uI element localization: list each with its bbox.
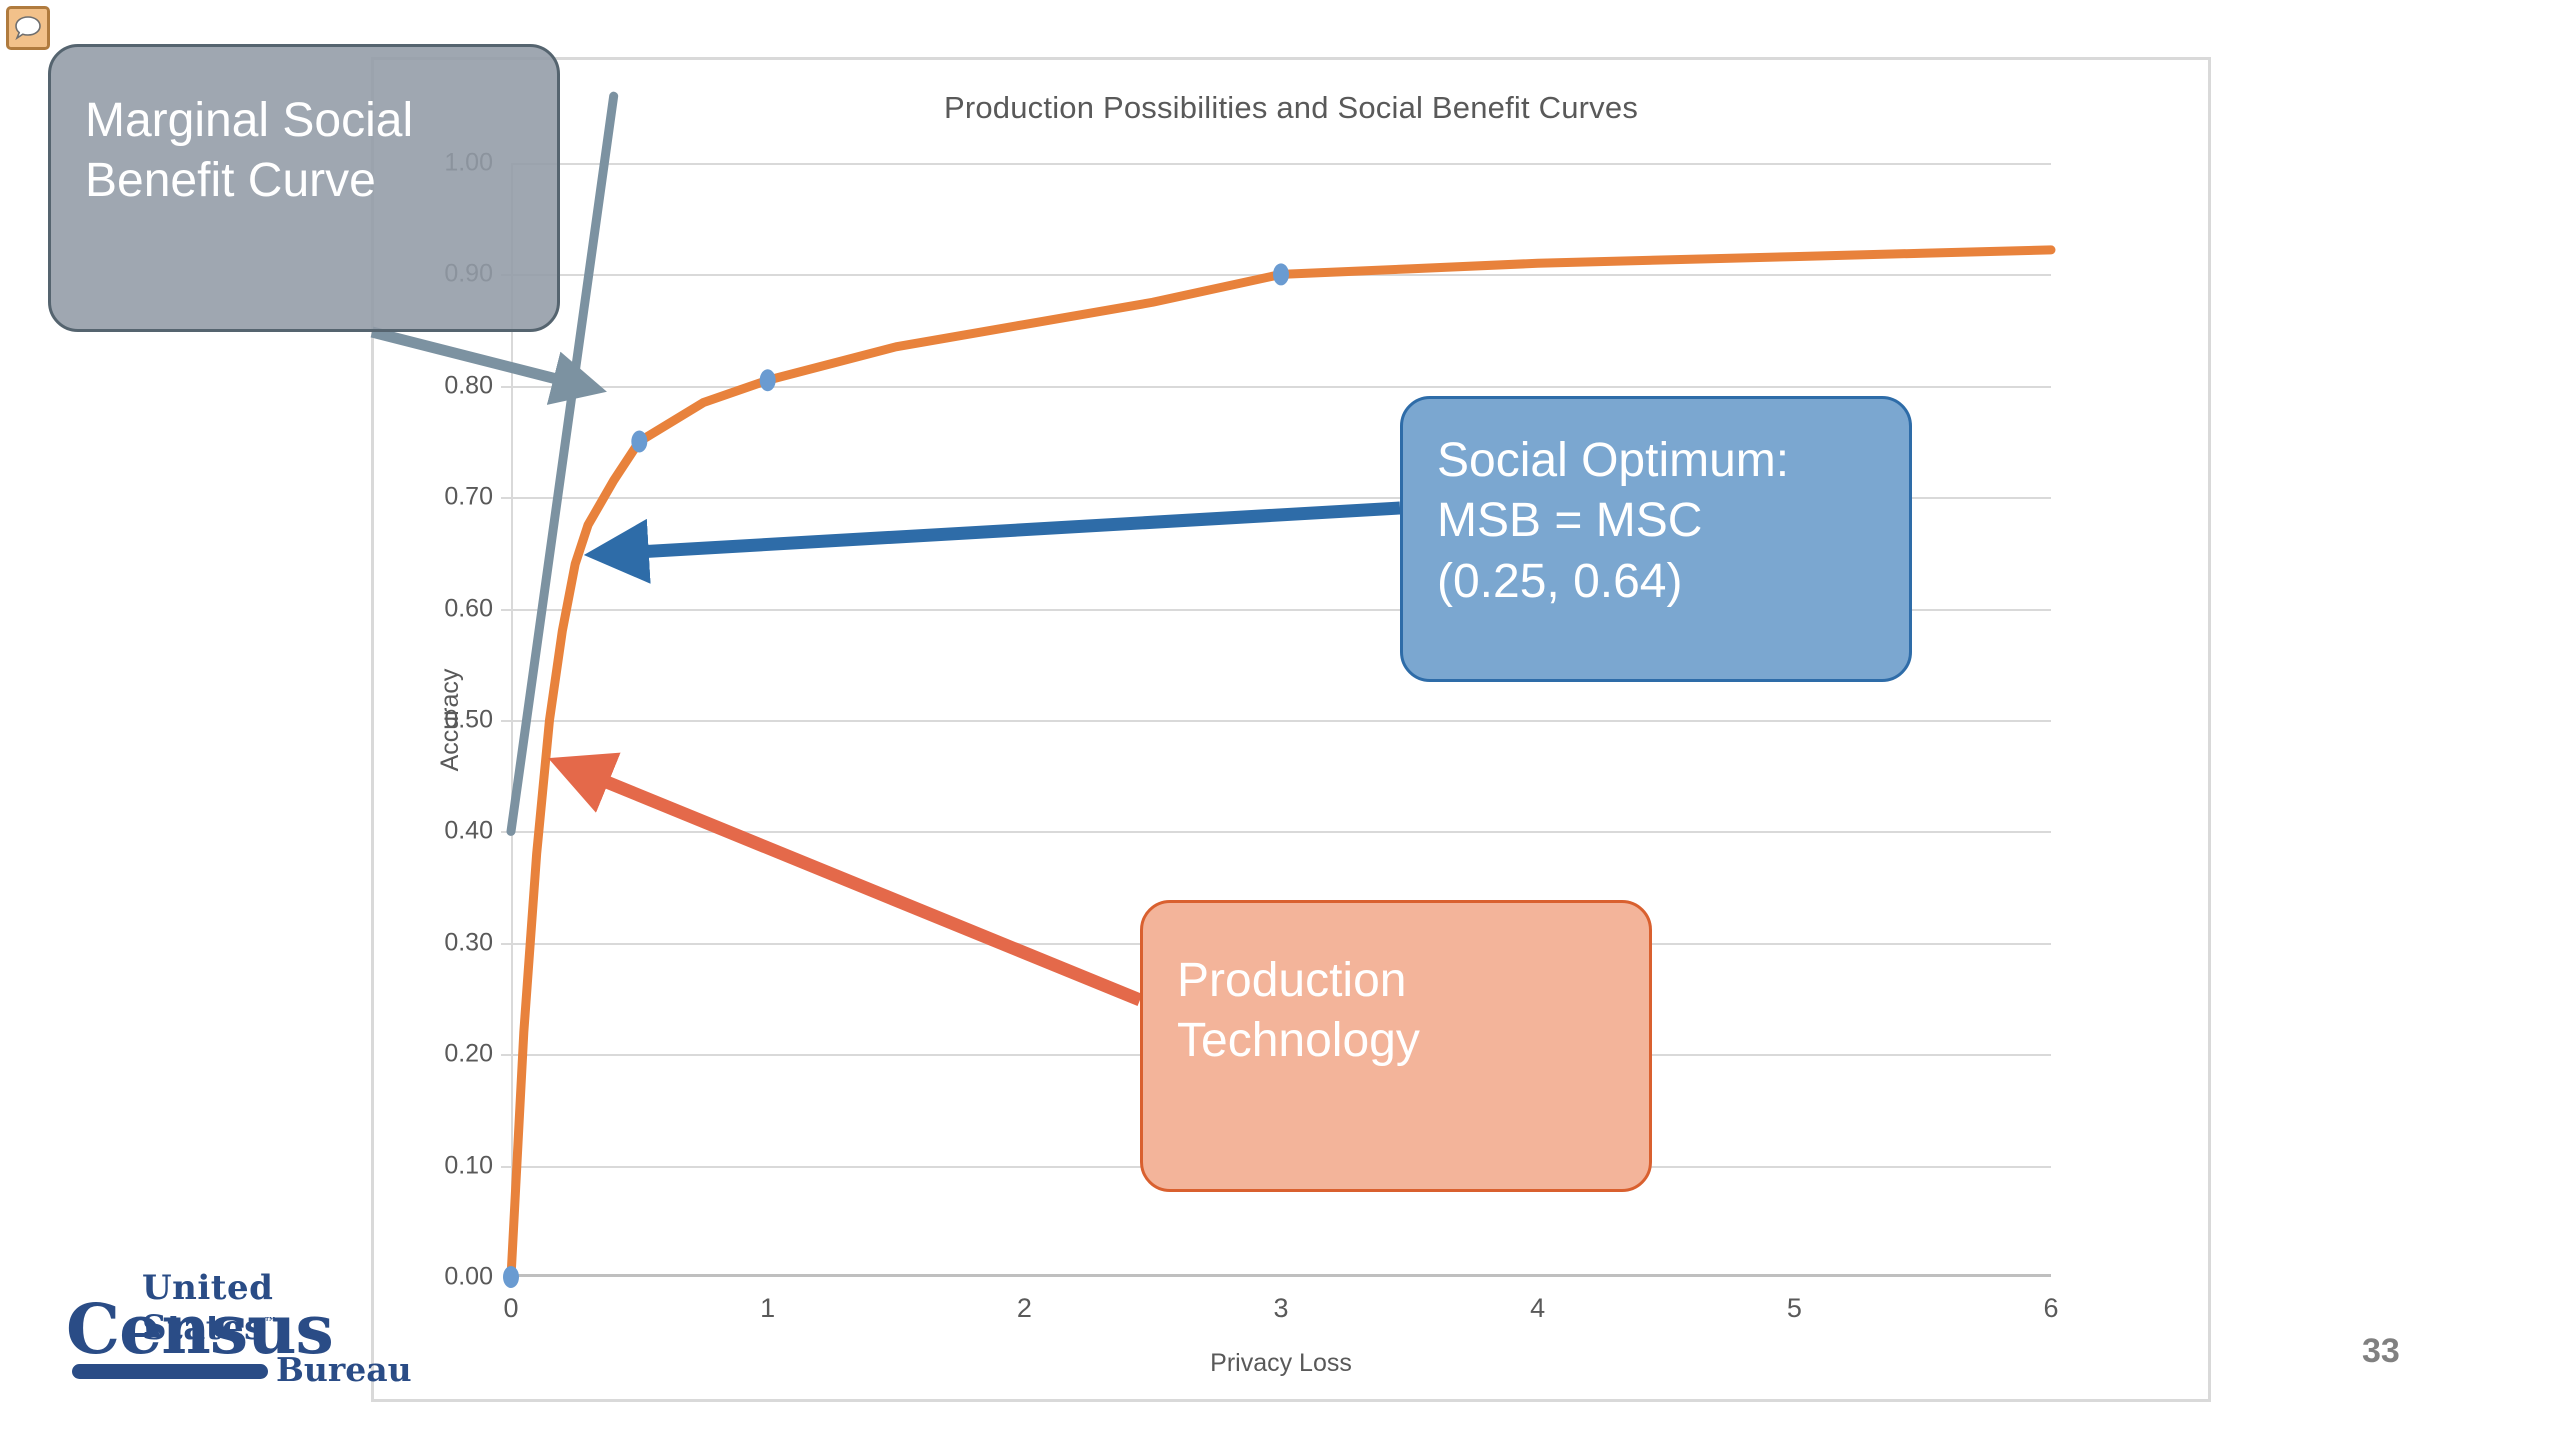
x-tick-label: 4 bbox=[1530, 1293, 1545, 1324]
callout-marginal-social-benefit[interactable]: Marginal Social Benefit Curve bbox=[48, 44, 560, 332]
data-point-marker bbox=[631, 431, 647, 453]
x-tick-label: 3 bbox=[1273, 1293, 1288, 1324]
census-bureau-logo: United States™ Census Bureau bbox=[66, 1268, 356, 1388]
callout-line: Production bbox=[1177, 951, 1615, 1011]
y-tick-label: 0.60 bbox=[444, 594, 493, 623]
x-tick-label: 1 bbox=[760, 1293, 775, 1324]
y-tick-label: 0.70 bbox=[444, 483, 493, 512]
callout-line: Technology bbox=[1177, 1011, 1615, 1071]
callout-line: Benefit Curve bbox=[85, 151, 523, 211]
y-tick-label: 0.30 bbox=[444, 928, 493, 957]
data-point-marker bbox=[1273, 263, 1289, 285]
data-point-marker bbox=[760, 369, 776, 391]
y-tick-label: 0.20 bbox=[444, 1040, 493, 1069]
data-point-marker bbox=[503, 1266, 519, 1288]
x-tick-label: 6 bbox=[2043, 1293, 2058, 1324]
callout-line: MSB = MSC bbox=[1437, 491, 1875, 551]
y-tick-label: 0.80 bbox=[444, 371, 493, 400]
callout-production-technology[interactable]: Production Technology bbox=[1140, 900, 1652, 1192]
callout-social-optimum[interactable]: Social Optimum: MSB = MSC (0.25, 0.64) bbox=[1400, 396, 1912, 682]
y-tick-label: 0.00 bbox=[444, 1263, 493, 1292]
callout-line: (0.25, 0.64) bbox=[1437, 552, 1875, 612]
x-tick-label: 5 bbox=[1787, 1293, 1802, 1324]
page-number: 33 bbox=[2362, 1332, 2400, 1371]
chart-container: Production Possibilities and Social Bene… bbox=[371, 57, 2211, 1402]
logo-bureau: Bureau bbox=[276, 1350, 412, 1389]
comment-bubble-icon[interactable] bbox=[6, 6, 50, 50]
logo-underline-bar bbox=[72, 1364, 268, 1379]
callout-line: Marginal Social bbox=[85, 91, 523, 151]
y-axis-label: Accuracy bbox=[436, 669, 465, 772]
x-tick-label: 2 bbox=[1017, 1293, 1032, 1324]
y-tick-label: 0.10 bbox=[444, 1151, 493, 1180]
callout-line: Social Optimum: bbox=[1437, 431, 1875, 491]
x-tick-label: 0 bbox=[503, 1293, 518, 1324]
y-tick-label: 0.40 bbox=[444, 817, 493, 846]
x-axis-label: Privacy Loss bbox=[511, 1349, 2051, 1378]
comment-bubble-glyph bbox=[14, 15, 42, 41]
chart-title: Production Possibilities and Social Bene… bbox=[374, 90, 2208, 126]
